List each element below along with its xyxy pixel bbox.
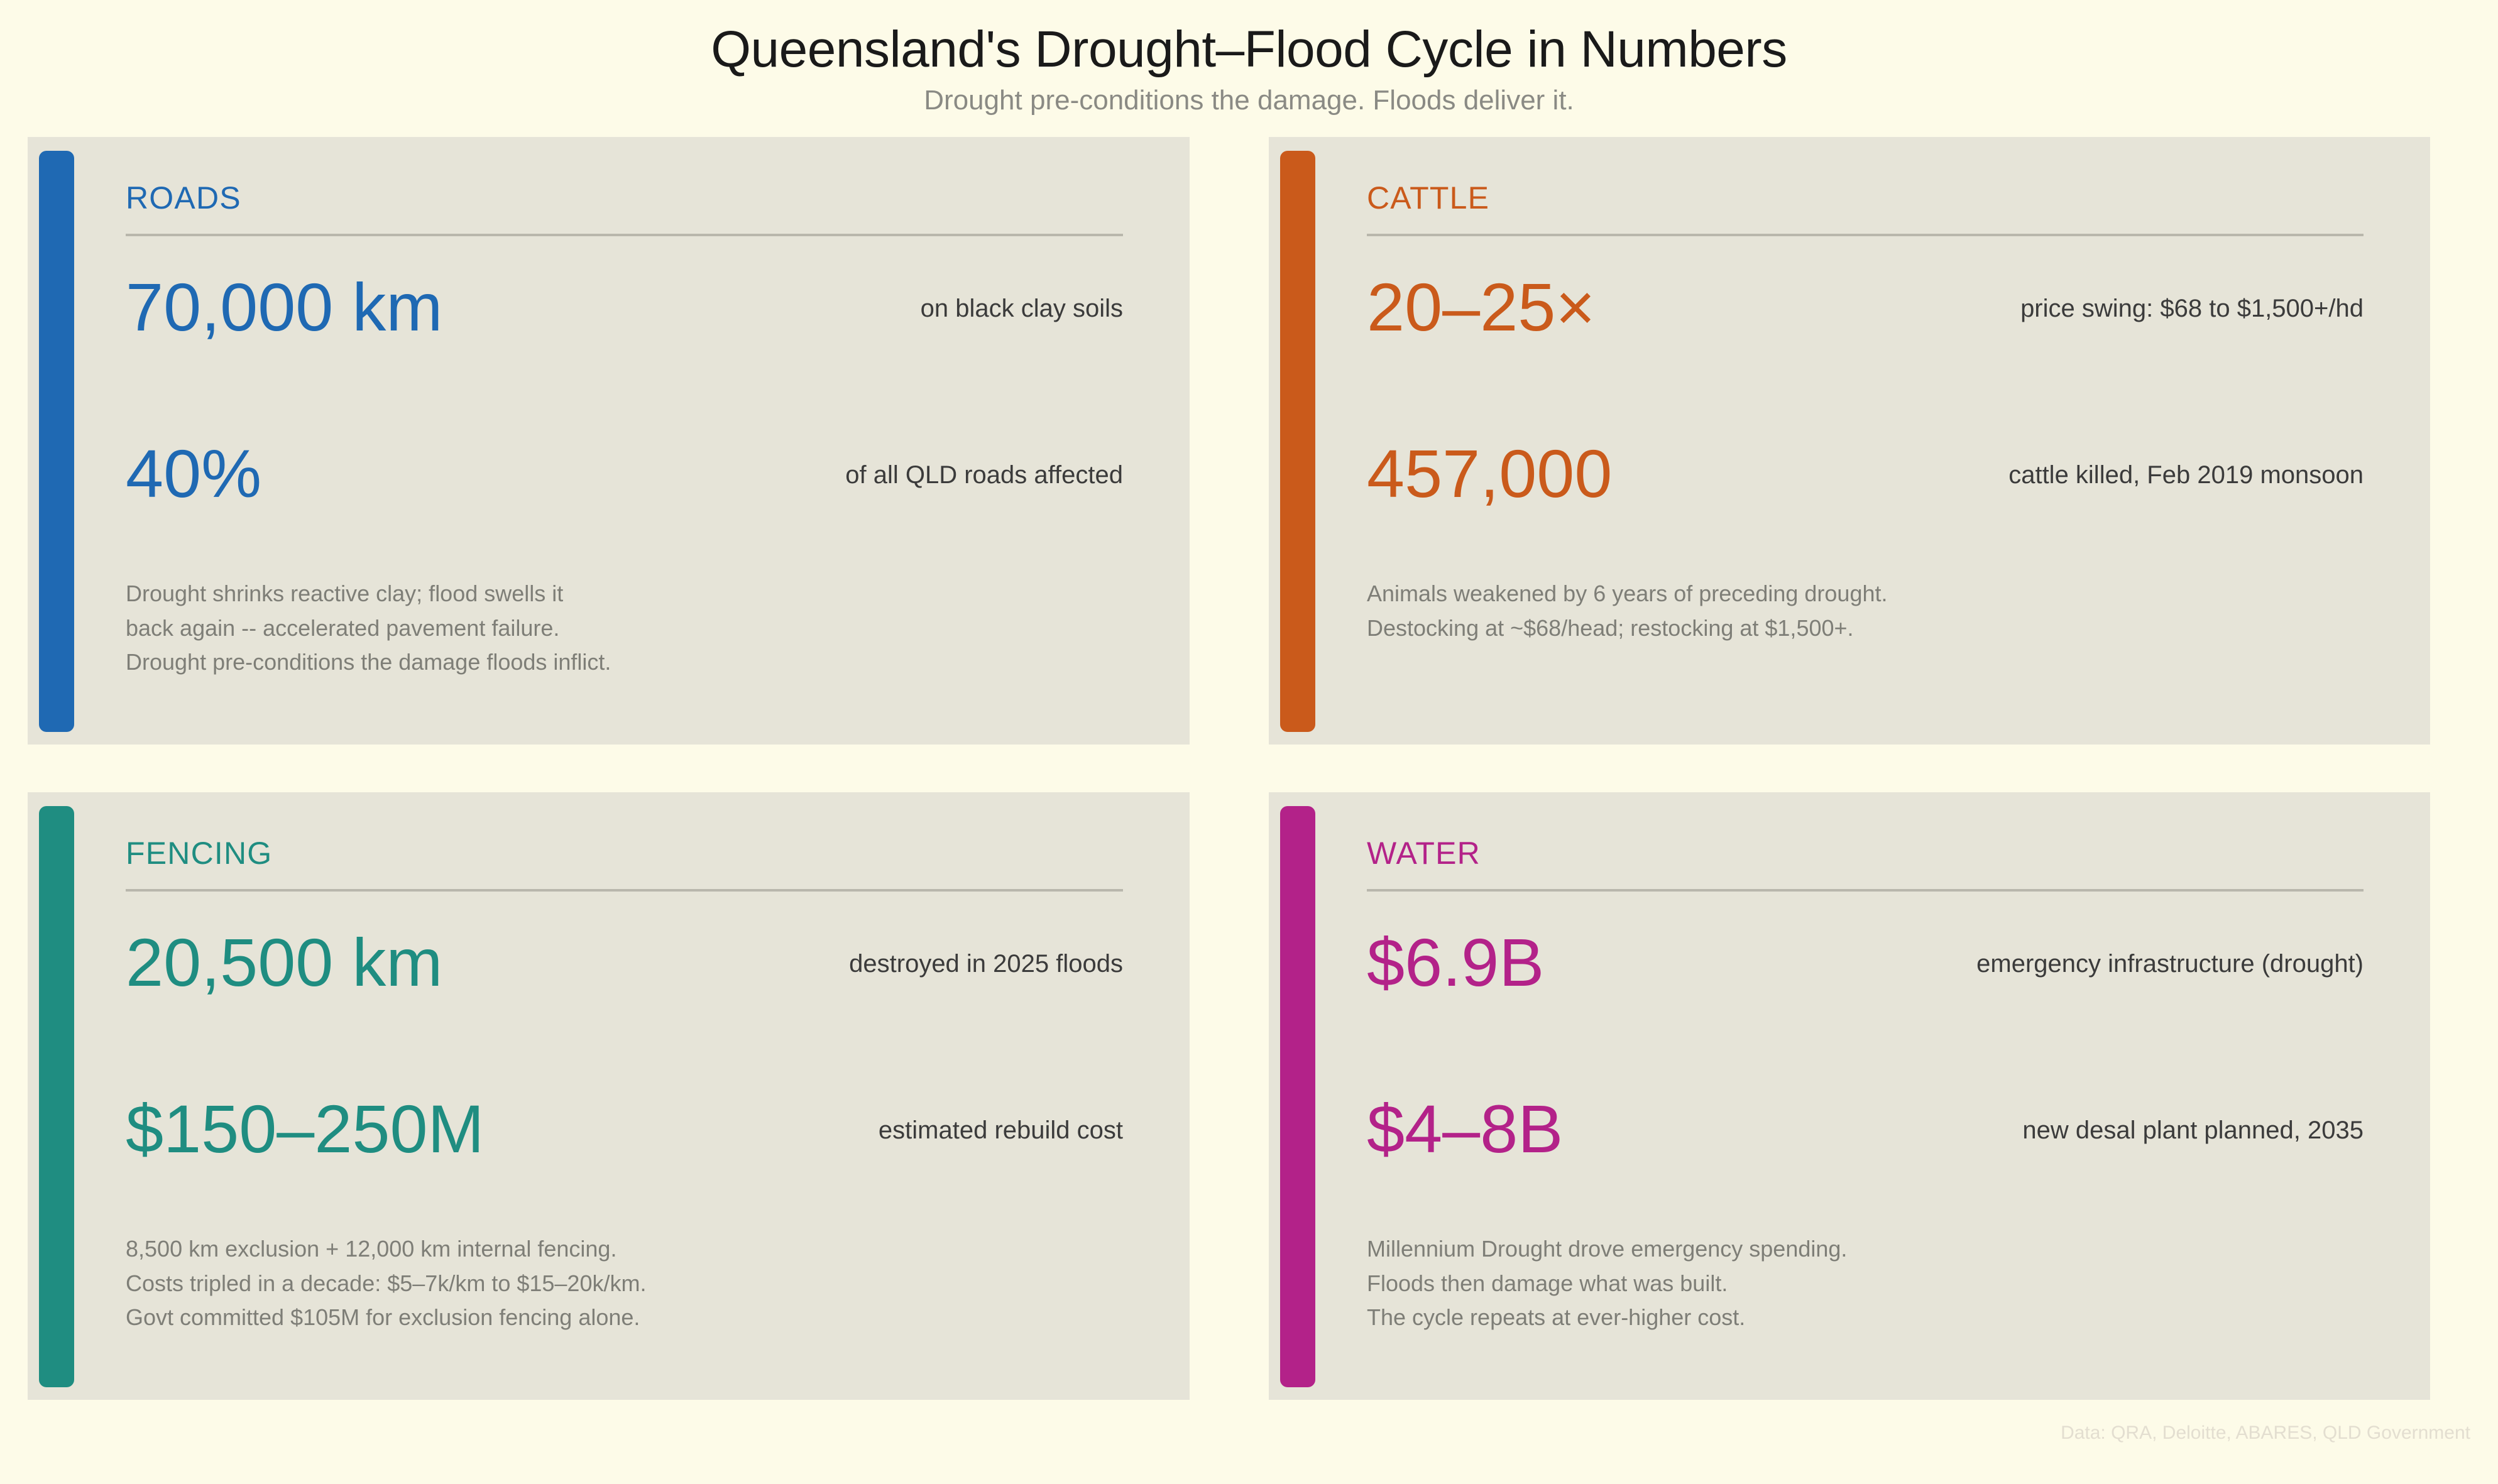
panel-divider	[1367, 889, 2364, 892]
panel-footnote: Drought shrinks reactive clay; flood swe…	[126, 577, 611, 680]
stat-caption: new desal plant planned, 2035	[2022, 1118, 2364, 1143]
infographic-header: Queensland's Drought–Flood Cycle in Numb…	[0, 0, 2498, 114]
stat-row: 20–25× price swing: $68 to $1,500+/hd	[1367, 253, 2364, 341]
stat-caption: cattle killed, Feb 2019 monsoon	[2008, 462, 2364, 488]
panel-fencing: FENCING 20,500 km destroyed in 2025 floo…	[28, 792, 1190, 1400]
footnote-line: back again -- accelerated pavement failu…	[126, 611, 611, 646]
panel-divider	[126, 889, 1123, 892]
footnote-line: Floods then damage what was built.	[1367, 1267, 1847, 1301]
stat-value: 20–25×	[1367, 273, 1595, 341]
stat-row: $150–250M estimated rebuild cost	[126, 1075, 1123, 1163]
stat-caption: destroyed in 2025 floods	[849, 951, 1123, 976]
stat-caption: estimated rebuild cost	[879, 1118, 1123, 1143]
data-source-note: Data: QRA, Deloitte, ABARES, QLD Governm…	[2061, 1424, 2470, 1443]
page-title: Queensland's Drought–Flood Cycle in Numb…	[0, 0, 2498, 75]
accent-bar-roads	[39, 151, 74, 732]
panel-label-water: WATER	[1367, 837, 1481, 869]
stat-row: 457,000 cattle killed, Feb 2019 monsoon	[1367, 420, 2364, 508]
panel-footnote: 8,500 km exclusion + 12,000 km internal …	[126, 1232, 646, 1335]
stat-row: $6.9B emergency infrastructure (drought)	[1367, 908, 2364, 996]
accent-bar-fencing	[39, 806, 74, 1387]
panel-footnote: Animals weakened by 6 years of preceding…	[1367, 577, 1888, 645]
panel-footnote: Millennium Drought drove emergency spend…	[1367, 1232, 1847, 1335]
stat-caption: emergency infrastructure (drought)	[1976, 951, 2364, 976]
stat-value: 20,500 km	[126, 929, 442, 996]
stat-row: $4–8B new desal plant planned, 2035	[1367, 1075, 2364, 1163]
stat-row: 40% of all QLD roads affected	[126, 420, 1123, 508]
stat-value: $4–8B	[1367, 1095, 1563, 1163]
panel-divider	[126, 234, 1123, 236]
stat-value: 457,000	[1367, 440, 1612, 508]
stat-value: $150–250M	[126, 1095, 484, 1163]
stat-value: 40%	[126, 440, 261, 508]
footnote-line: Millennium Drought drove emergency spend…	[1367, 1232, 1847, 1267]
stat-panel-grid: ROADS 70,000 km on black clay soils 40% …	[28, 137, 2430, 1401]
footnote-line: 8,500 km exclusion + 12,000 km internal …	[126, 1232, 646, 1267]
panel-label-roads: ROADS	[126, 182, 241, 214]
stat-caption: of all QLD roads affected	[845, 462, 1123, 488]
footnote-line: Drought pre-conditions the damage floods…	[126, 645, 611, 680]
panel-roads: ROADS 70,000 km on black clay soils 40% …	[28, 137, 1190, 745]
panel-body-cattle: CATTLE 20–25× price swing: $68 to $1,500…	[1367, 137, 2364, 745]
footnote-line: Animals weakened by 6 years of preceding…	[1367, 577, 1888, 611]
footnote-line: Govt committed $105M for exclusion fenci…	[126, 1301, 646, 1335]
stat-value: $6.9B	[1367, 929, 1544, 996]
footnote-line: Destocking at ~$68/head; restocking at $…	[1367, 611, 1888, 646]
stat-caption: price swing: $68 to $1,500+/hd	[2020, 296, 2364, 321]
panel-cattle: CATTLE 20–25× price swing: $68 to $1,500…	[1269, 137, 2430, 745]
stat-row: 20,500 km destroyed in 2025 floods	[126, 908, 1123, 996]
stat-value: 70,000 km	[126, 273, 442, 341]
footnote-line: Drought shrinks reactive clay; flood swe…	[126, 577, 611, 611]
footnote-line: The cycle repeats at ever-higher cost.	[1367, 1301, 1847, 1335]
panel-body-water: WATER $6.9B emergency infrastructure (dr…	[1367, 792, 2364, 1400]
footnote-line: Costs tripled in a decade: $5–7k/km to $…	[126, 1267, 646, 1301]
panel-label-fencing: FENCING	[126, 837, 272, 869]
accent-bar-cattle	[1280, 151, 1315, 732]
panel-body-roads: ROADS 70,000 km on black clay soils 40% …	[126, 137, 1123, 745]
panel-label-cattle: CATTLE	[1367, 182, 1489, 214]
accent-bar-water	[1280, 806, 1315, 1387]
stat-caption: on black clay soils	[921, 296, 1123, 321]
panel-divider	[1367, 234, 2364, 236]
panel-body-fencing: FENCING 20,500 km destroyed in 2025 floo…	[126, 792, 1123, 1400]
panel-water: WATER $6.9B emergency infrastructure (dr…	[1269, 792, 2430, 1400]
stat-row: 70,000 km on black clay soils	[126, 253, 1123, 341]
page-subtitle: Drought pre-conditions the damage. Flood…	[0, 75, 2498, 114]
